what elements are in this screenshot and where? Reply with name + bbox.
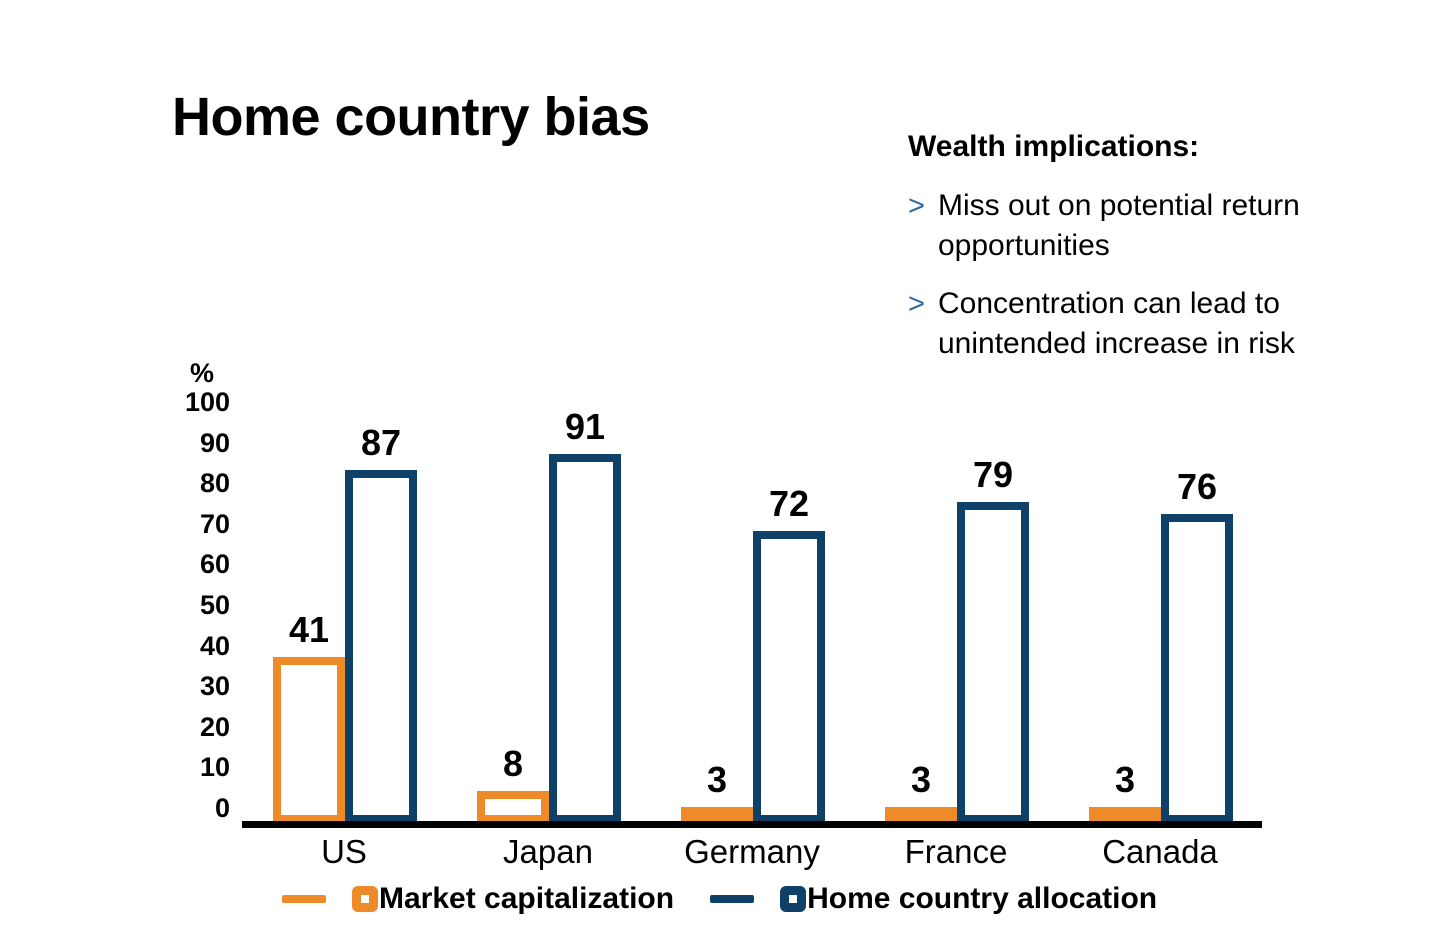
bar-germany-alloc[interactable] xyxy=(753,531,825,823)
y-axis-tick-80: 80 xyxy=(168,468,230,498)
legend-square-marker-icon xyxy=(352,886,378,912)
x-axis-label-france: France xyxy=(854,833,1058,871)
legend-line-icon xyxy=(282,895,326,903)
y-axis-tick-100: 100 xyxy=(168,387,230,417)
legend-item-market-capitalization: Market capitalization xyxy=(282,882,674,916)
y-axis-tick-70: 70 xyxy=(168,509,230,539)
bar-japan-mcap[interactable] xyxy=(477,791,549,823)
value-label-germany-mcap: 3 xyxy=(681,759,753,801)
value-label-canada-mcap: 3 xyxy=(1089,759,1161,801)
bar-group-germany: 372 xyxy=(650,417,854,823)
value-label-germany-alloc: 72 xyxy=(753,483,825,525)
bar-us-alloc[interactable] xyxy=(345,470,417,823)
chart-legend: Market capitalization Home country alloc… xyxy=(282,882,1157,916)
bar-france-alloc[interactable] xyxy=(957,502,1029,823)
y-axis-tick-0: 0 xyxy=(168,793,230,823)
x-axis-label-us: US xyxy=(242,833,446,871)
x-axis-label-germany: Germany xyxy=(650,833,854,871)
bar-group-japan: 891 xyxy=(446,417,650,823)
x-axis-label-canada: Canada xyxy=(1058,833,1262,871)
x-axis-line xyxy=(242,821,1262,828)
value-label-us-alloc: 87 xyxy=(345,422,417,464)
bar-group-france: 379 xyxy=(854,417,1058,823)
slide-canvas: Home country bias Wealth implications: >… xyxy=(0,0,1453,932)
bar-group-canada: 376 xyxy=(1058,417,1262,823)
bar-us-mcap[interactable] xyxy=(273,657,345,823)
y-axis-tick-20: 20 xyxy=(168,712,230,742)
legend-item-home-country-allocation: Home country allocation xyxy=(710,882,1157,916)
bar-canada-alloc[interactable] xyxy=(1161,514,1233,823)
value-label-france-alloc: 79 xyxy=(957,454,1029,496)
legend-line-icon xyxy=(710,895,754,903)
plot-area: 4187891372379376 xyxy=(242,417,1262,823)
legend-label: Market capitalization xyxy=(379,882,674,916)
bar-japan-alloc[interactable] xyxy=(549,454,621,823)
y-axis-tick-60: 60 xyxy=(168,549,230,579)
y-axis-tick-50: 50 xyxy=(168,590,230,620)
bar-chart: % 0102030405060708090100 418789137237937… xyxy=(0,0,1453,932)
value-label-japan-mcap: 8 xyxy=(477,743,549,785)
y-axis-tick-10: 10 xyxy=(168,752,230,782)
value-label-us-mcap: 41 xyxy=(273,609,345,651)
value-label-france-mcap: 3 xyxy=(885,759,957,801)
y-axis-tick-30: 30 xyxy=(168,671,230,701)
bar-group-us: 4187 xyxy=(242,417,446,823)
value-label-japan-alloc: 91 xyxy=(549,406,621,448)
x-axis-label-japan: Japan xyxy=(446,833,650,871)
value-label-canada-alloc: 76 xyxy=(1161,466,1233,508)
y-axis-tick-labels: 0102030405060708090100 xyxy=(168,402,230,838)
legend-square-marker-icon xyxy=(780,886,806,912)
y-axis-unit-label: % xyxy=(190,358,214,389)
y-axis-tick-90: 90 xyxy=(168,428,230,458)
legend-label: Home country allocation xyxy=(807,882,1157,916)
y-axis-tick-40: 40 xyxy=(168,631,230,661)
